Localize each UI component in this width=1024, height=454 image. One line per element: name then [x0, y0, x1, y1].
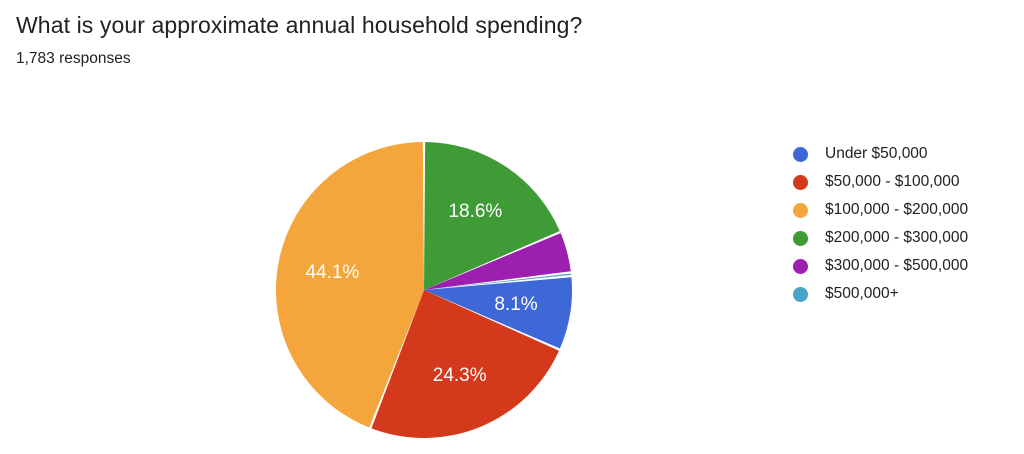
- legend-item-label: Under $50,000: [825, 145, 928, 163]
- legend-item-label: $50,000 - $100,000: [825, 173, 959, 191]
- legend-item-label: $500,000+: [825, 285, 899, 303]
- pie-plot-area: 18.6%8.1%24.3%44.1%: [0, 0, 780, 454]
- legend-item-label: $300,000 - $500,000: [825, 257, 968, 275]
- legend-item[interactable]: Under $50,000: [793, 140, 1018, 168]
- pie-chart-card: What is your approximate annual househol…: [0, 0, 1024, 454]
- legend-item[interactable]: $200,000 - $300,000: [793, 224, 1018, 252]
- legend-dot-icon: [793, 203, 808, 218]
- pie-slice-label: 44.1%: [305, 262, 359, 283]
- pie-slice-label: 18.6%: [448, 201, 502, 222]
- legend-item[interactable]: $50,000 - $100,000: [793, 168, 1018, 196]
- legend-dot-icon: [793, 231, 808, 246]
- legend-dot-icon: [793, 147, 808, 162]
- legend-item[interactable]: $100,000 - $200,000: [793, 196, 1018, 224]
- pie-slice-label: 24.3%: [433, 365, 487, 386]
- legend-dot-icon: [793, 175, 808, 190]
- legend-item-label: $100,000 - $200,000: [825, 201, 968, 219]
- legend-dot-icon: [793, 287, 808, 302]
- legend-item[interactable]: $300,000 - $500,000: [793, 252, 1018, 280]
- pie-slice-group: [276, 142, 572, 438]
- pie-chart-svg: 18.6%8.1%24.3%44.1%: [0, 0, 780, 454]
- legend-item[interactable]: $500,000+: [793, 280, 1018, 308]
- pie-slice-label: 8.1%: [494, 294, 537, 315]
- legend-dot-icon: [793, 259, 808, 274]
- legend-item-label: $200,000 - $300,000: [825, 229, 968, 247]
- chart-legend: Under $50,000$50,000 - $100,000$100,000 …: [793, 140, 1018, 308]
